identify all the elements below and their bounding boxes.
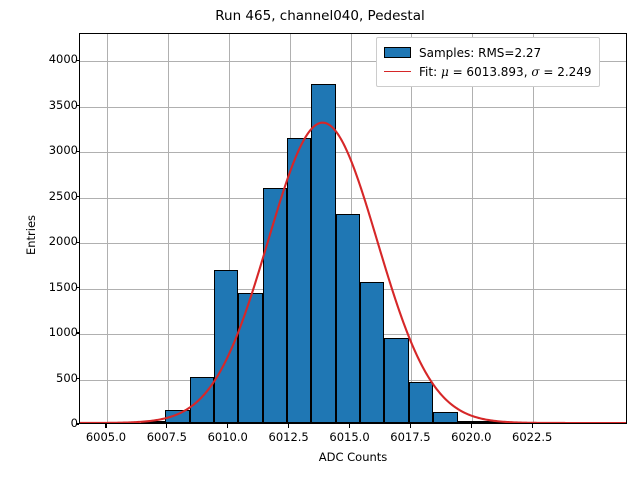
- legend-item-samples: Samples: RMS=2.27: [384, 43, 592, 62]
- legend-fit-prefix: Fit:: [419, 65, 441, 79]
- legend-fit-line-icon: [384, 71, 411, 72]
- y-tick-label: 2000: [49, 234, 78, 248]
- figure-canvas: Run 465, channel040, Pedestal 0500100015…: [0, 0, 640, 480]
- x-tick-label: 6007.5: [147, 430, 187, 444]
- x-tick-mark: [105, 424, 106, 428]
- x-tick-mark: [288, 424, 289, 428]
- plot-area: [79, 33, 627, 424]
- y-tick-label: 4000: [49, 52, 78, 66]
- x-tick-mark: [227, 424, 228, 428]
- x-tick-label: 6012.5: [269, 430, 309, 444]
- y-tick-label: 1000: [49, 325, 78, 339]
- y-tick-label: 0: [71, 416, 78, 430]
- y-tick-label: 3500: [49, 98, 78, 112]
- x-tick-label: 6017.5: [390, 430, 430, 444]
- x-tick-label: 6022.5: [512, 430, 552, 444]
- legend-fit-sigma-symbol: σ: [531, 65, 539, 79]
- legend-item-fit: Fit: μ = 6013.893, σ = 2.249: [384, 62, 592, 81]
- legend-samples-label: Samples: RMS=2.27: [419, 46, 541, 60]
- y-tick-label: 2500: [49, 189, 78, 203]
- x-tick-mark: [166, 424, 167, 428]
- x-tick-mark: [349, 424, 350, 428]
- y-tick-label: 1500: [49, 280, 78, 294]
- legend-fit-label: Fit: μ = 6013.893, σ = 2.249: [419, 65, 592, 79]
- x-tick-label: 6005.0: [86, 430, 126, 444]
- x-tick-label: 6020.0: [451, 430, 491, 444]
- y-axis-label: Entries: [24, 135, 38, 335]
- chart-title: Run 465, channel040, Pedestal: [0, 8, 640, 24]
- x-tick-mark: [532, 424, 533, 428]
- legend-fit-mu-value: = 6013.893,: [449, 65, 532, 79]
- x-tick-label: 6015.0: [329, 430, 369, 444]
- legend-samples-swatch-icon: [384, 47, 411, 58]
- x-tick-label: 6010.0: [208, 430, 248, 444]
- y-tick-label: 3000: [49, 143, 78, 157]
- legend-fit-mu-symbol: μ: [441, 65, 449, 79]
- gaussian-fit-curve: [80, 34, 626, 423]
- x-tick-mark: [471, 424, 472, 428]
- legend-fit-sigma-value: = 2.249: [540, 65, 592, 79]
- y-tick-label: 500: [56, 371, 78, 385]
- x-tick-mark: [410, 424, 411, 428]
- x-axis-label: ADC Counts: [79, 450, 627, 464]
- legend: Samples: RMS=2.27 Fit: μ = 6013.893, σ =…: [376, 37, 600, 87]
